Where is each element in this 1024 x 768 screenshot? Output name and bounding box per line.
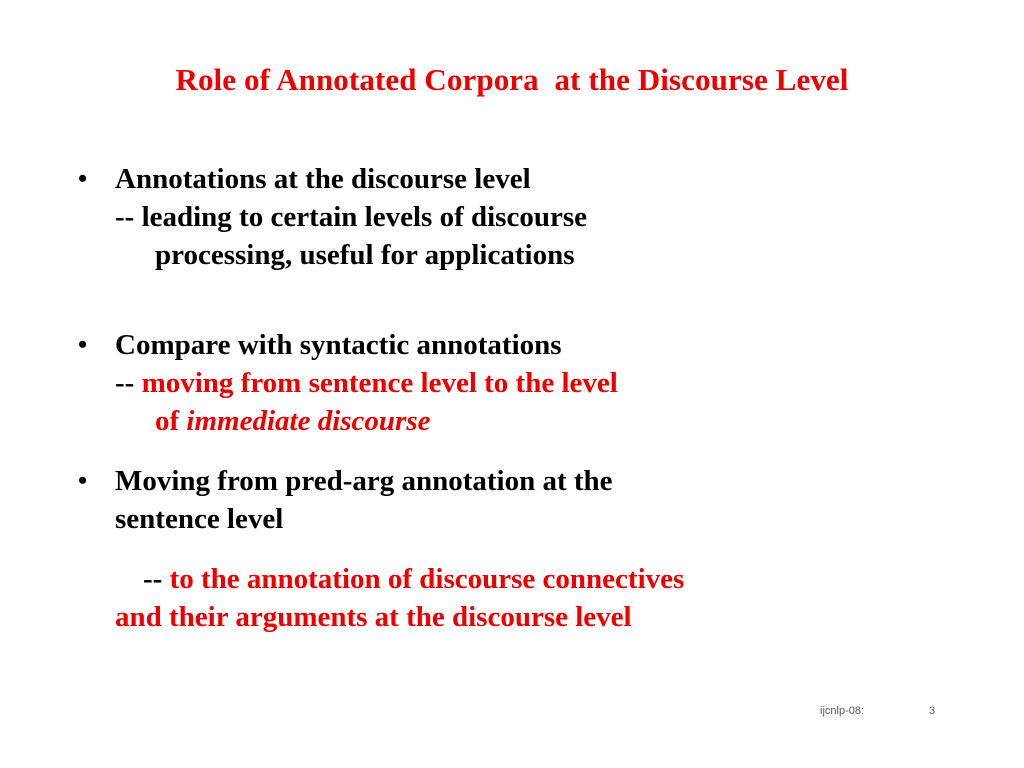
dash-marker: --	[143, 563, 170, 595]
bullet-line-segment: Annotations at the discourse level	[115, 163, 531, 195]
bullet-line: Compare with syntactic annotations	[115, 326, 950, 364]
bullet-line: processing, useful for applications	[115, 236, 950, 274]
page-number: 3	[929, 705, 935, 717]
bullet-line-segment: moving from sentence level to the level	[142, 367, 618, 399]
bullet-marker-icon: •	[78, 462, 87, 500]
bullet-line: -- moving from sentence level to the lev…	[115, 364, 950, 402]
page-title: Role of Annotated Corpora at the Discour…	[0, 63, 1024, 97]
closing-paragraph-segment: and their arguments at the discourse lev…	[115, 601, 632, 633]
spacer	[70, 538, 950, 560]
slide-footer: ijcnlp-08: 3	[0, 705, 1024, 725]
bullet-line: sentence level	[115, 500, 950, 538]
closing-paragraph-line: -- to the annotation of discourse connec…	[115, 560, 950, 598]
bullet-line-segment: of	[155, 405, 186, 437]
bullet-line-segment: Compare with syntactic annotations	[115, 329, 562, 361]
slide-canvas: Role of Annotated Corpora at the Discour…	[0, 0, 1024, 768]
bullet-marker-icon: •	[78, 160, 87, 198]
bullet-item-1: • Annotations at the discourse level -- …	[70, 160, 950, 274]
bullet-item-2: • Compare with syntactic annotations -- …	[70, 326, 950, 440]
bullet-line: Moving from pred-arg annotation at the	[115, 462, 950, 500]
bullet-item-2-text: Compare with syntactic annotations -- mo…	[115, 326, 950, 440]
slide-body: • Annotations at the discourse level -- …	[70, 160, 950, 636]
bullet-line: Annotations at the discourse level	[115, 160, 950, 198]
closing-paragraph: -- to the annotation of discourse connec…	[115, 560, 950, 636]
bullet-line-segment: processing, useful for applications	[155, 239, 574, 271]
bullet-item-3: • Moving from pred-arg annotation at the…	[70, 462, 950, 538]
spacer	[70, 440, 950, 462]
bullet-line: -- leading to certain levels of discours…	[115, 198, 950, 236]
bullet-item-1-text: Annotations at the discourse level -- le…	[115, 160, 950, 274]
bullet-line: of immediate discourse	[115, 402, 950, 440]
footer-label: ijcnlp-08:	[820, 705, 864, 717]
bullet-line-segment: sentence level	[115, 503, 283, 535]
bullet-marker-icon: •	[78, 326, 87, 364]
bullet-item-3-text: Moving from pred-arg annotation at the s…	[115, 462, 950, 538]
bullet-line-segment: Moving from pred-arg annotation at the	[115, 465, 613, 497]
bullet-line-segment: -- leading to certain levels of discours…	[115, 201, 587, 233]
closing-paragraph-segment: to the annotation of discourse connectiv…	[170, 563, 685, 595]
spacer	[70, 274, 950, 326]
bullet-line-segment-emphasis: immediate discourse	[186, 405, 430, 437]
closing-paragraph-line: and their arguments at the discourse lev…	[115, 598, 950, 636]
dash-marker: --	[115, 367, 142, 399]
